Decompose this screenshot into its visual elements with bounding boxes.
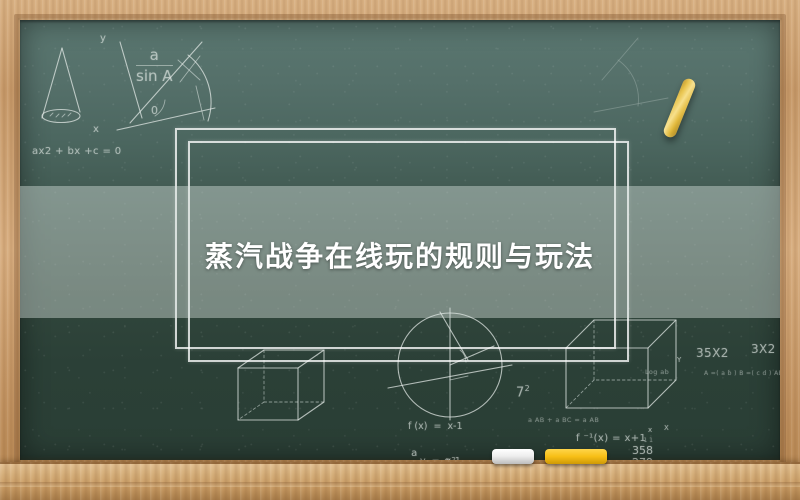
function-equations-note: f (x) = x-1 y = x-1 x = y+1 xyxy=(408,397,471,460)
seven-exponent: 2 xyxy=(525,384,531,393)
fraction-denominator: sin A xyxy=(136,66,173,85)
seven-squared-note: 72 xyxy=(516,384,530,400)
angle-label-theta: 0 xyxy=(151,104,158,117)
matrix-equation-note: A =( a b ) B =( c d ) AB =( e f ) xyxy=(704,370,780,377)
chalkboard-surface: a sin A y x 0 ax2 + bx +c = 0 f (x) = x-… xyxy=(20,20,780,460)
fraction-numerator: a xyxy=(402,448,426,460)
axis-label-x-right: X xyxy=(664,424,669,432)
chalk-ledge xyxy=(0,462,800,500)
yellow-chalk-piece xyxy=(545,449,607,464)
fx-line-1: f (x) = x-1 xyxy=(408,421,471,433)
multiplication-35x2-note: 35X2 xyxy=(696,346,729,360)
fraction-a-over-sina-topleft: a sin A xyxy=(136,46,173,85)
seven-base: 7 xyxy=(516,385,525,400)
white-chalk-piece xyxy=(492,449,534,464)
log-ab-note: Log ab xyxy=(645,368,669,376)
multiplication-3x2-note: 3X2 xyxy=(751,342,776,356)
addend-one: 358 xyxy=(632,445,653,457)
quadratic-equation-note: ax2 + bx +c = 0 xyxy=(32,146,122,157)
fraction-a-over-sina-bottomleft: a sin A xyxy=(402,448,426,460)
yellow-chalk-stick-icon xyxy=(662,77,697,139)
axis-label-x-topleft: x xyxy=(93,124,99,135)
angle-axes-drawing xyxy=(117,42,215,130)
fraction-numerator: a xyxy=(136,46,173,66)
chalkboard-title-card: a sin A y x 0 ax2 + bx +c = 0 f (x) = x-… xyxy=(0,0,800,500)
cone-drawing xyxy=(42,48,80,123)
fx-line-2: y = x-1 xyxy=(408,456,471,460)
vector-sum-note: a AB + a BC = a AB xyxy=(528,416,599,424)
carry-digits: 1 1 xyxy=(632,438,653,445)
axis-label-y-topleft: y xyxy=(100,33,106,44)
inverse-function-note: f ⁻¹(x) = x+1 xyxy=(576,433,646,444)
page-title: 蒸汽战争在线玩的规则与玩法 xyxy=(20,235,780,275)
column-addition-note: 1 1 358 279 637 xyxy=(632,438,653,460)
eight-base: 8 xyxy=(444,457,451,460)
addend-two: 279 xyxy=(632,457,653,460)
faint-angle-drawing-right xyxy=(594,38,668,112)
eight-squared-note: 82 xyxy=(444,456,456,460)
axis-label-x-sum: x xyxy=(648,426,653,434)
axis-label-y-right: Y xyxy=(677,356,682,364)
ledge-lip xyxy=(0,482,800,487)
eight-exponent: 2 xyxy=(451,456,456,460)
